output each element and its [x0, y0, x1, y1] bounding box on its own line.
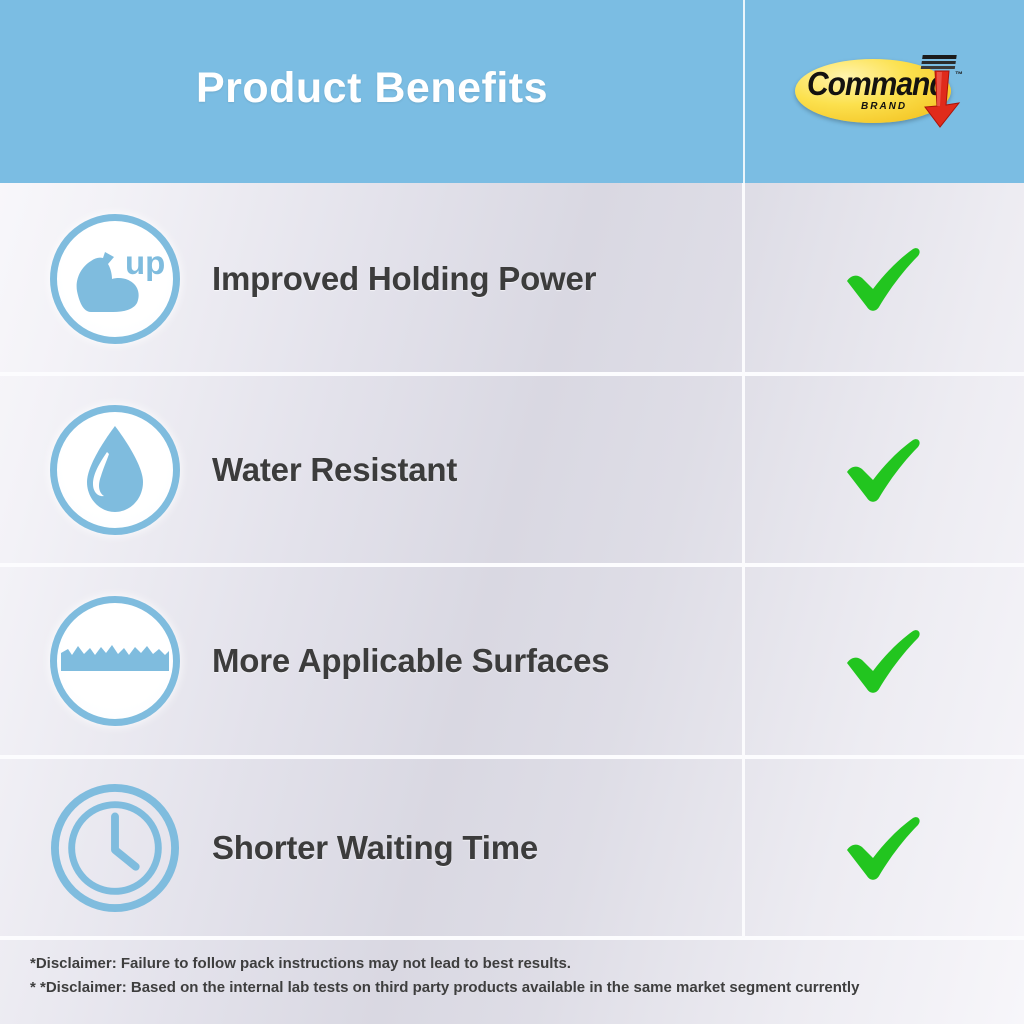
benefit-cell: Water Resistant — [0, 374, 742, 565]
red-down-arrow-icon — [913, 53, 969, 131]
benefit-label: More Applicable Surfaces — [212, 642, 609, 680]
status-cell — [742, 757, 1024, 938]
benefit-cell: up Improved Holding Power — [0, 183, 742, 374]
body-column-divider — [742, 183, 745, 938]
table-row: More Applicable Surfaces — [0, 565, 1024, 757]
disclaimer-line-2: * *Disclaimer: Based on the internal lab… — [30, 976, 1020, 1000]
status-cell — [742, 374, 1024, 565]
table-row: Shorter Waiting Time — [0, 757, 1024, 938]
logo-trademark-symbol: ™ — [955, 70, 963, 79]
logo-brand-subtext: BRAND — [861, 101, 907, 112]
product-benefits-infographic: Product Benefits Command BRAND ™ — [0, 0, 1024, 1024]
row-divider — [0, 936, 1024, 940]
green-checkmark-icon — [841, 625, 925, 697]
green-checkmark-icon — [841, 812, 925, 884]
green-checkmark-icon — [841, 434, 925, 506]
benefit-label: Water Resistant — [212, 451, 457, 489]
water-droplet-icon — [50, 405, 180, 535]
benefits-table-body: up Improved Holding Power — [0, 183, 1024, 938]
disclaimer-section: *Disclaimer: Failure to follow pack inst… — [30, 952, 1020, 999]
green-checkmark-icon — [841, 243, 925, 315]
status-cell — [742, 565, 1024, 757]
status-cell — [742, 183, 1024, 374]
benefit-cell: More Applicable Surfaces — [0, 565, 742, 757]
disclaimer-line-1: *Disclaimer: Failure to follow pack inst… — [30, 952, 1020, 976]
benefit-cell: Shorter Waiting Time — [0, 757, 742, 938]
brand-logo-cell: Command BRAND ™ — [744, 0, 1024, 183]
header-bar: Product Benefits Command BRAND ™ — [0, 0, 1024, 183]
textured-surface-icon — [50, 596, 180, 726]
command-brand-logo: Command BRAND ™ — [795, 53, 973, 131]
table-row: Water Resistant — [0, 374, 1024, 565]
clock-icon — [50, 783, 180, 913]
svg-text:up: up — [125, 244, 165, 281]
flexing-bicep-up-icon: up — [50, 214, 180, 344]
page-title: Product Benefits — [0, 0, 744, 183]
table-row: up Improved Holding Power — [0, 183, 1024, 374]
benefit-label: Improved Holding Power — [212, 260, 596, 298]
benefit-label: Shorter Waiting Time — [212, 829, 538, 867]
